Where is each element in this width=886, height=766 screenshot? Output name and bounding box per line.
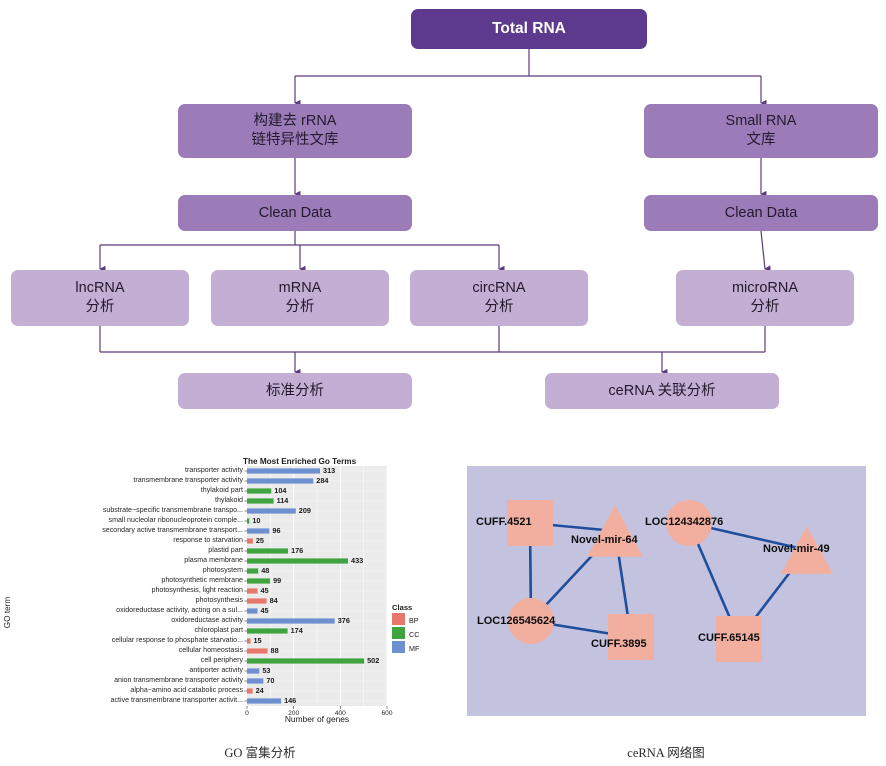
cerna-node-cuff3895[interactable] [608,614,654,660]
cerna-network-graph [467,466,866,716]
cerna-node-label-nmir64: Novel-mir-64 [571,534,638,546]
go-bar [247,638,251,643]
go-bar-value: 53 [262,667,270,674]
go-category-label: small nucleolar ribonucleoprotein comple… [20,517,243,524]
go-bar-value: 70 [266,677,274,684]
go-bar [247,608,258,613]
go-yaxis-title: GO term [3,597,12,628]
go-chart-title: The Most Enriched Go Terms [243,457,356,466]
cerna-node-label-cuff65145: CUFF.65145 [698,632,760,644]
go-xtick-label: 0 [233,710,261,717]
go-legend-swatch-cc [392,627,405,639]
go-bar [247,548,288,553]
go-bar-value: 174 [291,627,303,634]
go-xaxis-title: Number of genes [247,714,387,724]
flow-node-label: 构建去 rRNA [254,112,337,131]
go-bar-value: 376 [338,617,350,624]
go-bar [247,628,288,633]
go-category-label: substrate−specific transmembrane transpo… [20,507,243,514]
flow-node-label: lncRNA [75,279,124,298]
go-xtick-label: 400 [326,710,354,717]
go-category-label: active transmembrane transporter activit… [20,697,243,704]
go-bar-value: 24 [256,687,264,694]
go-category-label: photosystem [20,567,243,574]
go-category-label: alpha−amino acid catabolic process [20,687,243,694]
flow-node-standard: 标准分析 [178,373,412,409]
go-xtick-label: 600 [373,710,401,717]
go-bar-value: 104 [274,487,286,494]
go-bar [247,498,274,503]
go-bar-value: 15 [254,637,262,644]
go-bar [247,688,253,693]
flow-node-label: Small RNA [726,112,797,131]
go-bar [247,658,364,663]
flow-node-label: 链特异性文库 [252,131,339,150]
cerna-node-label-cuff4521: CUFF.4521 [476,516,532,528]
cerna-node-label-loc1243: LOC124342876 [645,516,723,528]
flow-node-mrna: mRNA分析 [211,270,389,326]
go-category-label: chloroplast part [20,627,243,634]
cerna-node-label-nmir49: Novel-mir-49 [763,543,830,555]
go-bar-value: 25 [256,537,264,544]
flow-node-label: microRNA [732,279,798,298]
go-bar [247,698,281,703]
go-bar [247,538,253,543]
go-category-label: plastid part [20,547,243,554]
go-legend-label-bp: BP [409,616,419,625]
go-bar-value: 176 [291,547,303,554]
go-category-label: thylakoid part [20,487,243,494]
go-bar-value: 284 [316,477,328,484]
go-category-label: plasma membrane [20,557,243,564]
flow-node-label: 分析 [485,298,514,317]
go-category-label: oxidoreductase activity, acting on a sul… [20,607,243,614]
workflow-flowchart: Total RNA构建去 rRNA链特异性文库Small RNA文库Clean … [0,0,886,440]
go-category-label: secondary active transmembrane transport… [20,527,243,534]
go-legend-swatch-mf [392,641,405,653]
flow-node-label: ceRNA 关联分析 [608,382,715,401]
go-bar [247,578,270,583]
go-bar-value: 45 [261,607,269,614]
go-bar [247,468,320,473]
flow-node-label: 分析 [751,298,780,317]
cerna-node-label-cuff3895: CUFF.3895 [591,638,647,650]
go-bar-value: 96 [272,527,280,534]
flow-node-rrna-library: 构建去 rRNA链特异性文库 [178,104,412,158]
flow-node-label: Clean Data [259,204,332,223]
flow-node-label: Total RNA [492,19,566,39]
flow-node-clean-data-r: Clean Data [644,195,878,231]
go-bar [247,678,263,683]
go-category-label: photosynthesis [20,597,243,604]
flow-node-label: 分析 [286,298,315,317]
go-category-label: cellular response to phosphate starvatio… [20,637,243,644]
flow-node-total-rna: Total RNA [411,9,647,49]
go-bar [247,528,269,533]
flow-node-label: Clean Data [725,204,798,223]
go-bar [247,508,296,513]
flow-node-label: mRNA [279,279,322,298]
flow-node-microrna: microRNA分析 [676,270,854,326]
cerna-network-diagram: CUFF.4521Novel-mir-64LOC126545624CUFF.38… [467,466,866,716]
go-bar-value: 45 [261,587,269,594]
go-category-label: oxidoreductase activity [20,617,243,624]
go-bar [247,648,268,653]
flow-node-circrna: circRNA分析 [410,270,588,326]
cerna-figure-caption: ceRNA 网络图 [546,742,786,761]
flow-node-small-rna-lib: Small RNA文库 [644,104,878,158]
go-bar [247,588,258,593]
cerna-node-nmir64[interactable] [587,505,643,557]
go-bar-value: 99 [273,577,281,584]
go-legend-swatch-bp [392,613,405,625]
cerna-node-label-loc1265: LOC126545624 [477,615,555,627]
go-bar-value: 10 [252,517,260,524]
go-bar [247,598,267,603]
go-category-label: anion transmembrane transporter activity [20,677,243,684]
go-bar-value: 114 [277,497,289,504]
go-category-label: response to starvation [20,537,243,544]
go-category-label: cellular homeostasis [20,647,243,654]
go-bar-value: 209 [299,507,311,514]
go-bar [247,568,258,573]
flow-node-label: 文库 [747,131,776,150]
flow-node-label: 标准分析 [266,382,324,401]
go-legend-label-mf: MF [409,644,419,653]
flow-node-label: circRNA [472,279,525,298]
go-category-label: transmembrane transporter activity [20,477,243,484]
go-figure-caption: GO 富集分析 [140,742,380,761]
go-bar [247,518,249,523]
go-category-label: antiporter activity [20,667,243,674]
go-bar [247,558,348,563]
go-xtick-label: 200 [280,710,308,717]
go-category-label: thylakoid [20,497,243,504]
go-bar-value: 84 [270,597,278,604]
go-bar-value: 433 [351,557,363,564]
go-category-label: cell periphery [20,657,243,664]
go-bar-value: 502 [367,657,379,664]
go-legend-label-cc: CC [409,630,419,639]
go-category-label: transporter activity [20,467,243,474]
go-category-label: photosynthetic membrane [20,577,243,584]
flow-node-cerna-analysis: ceRNA 关联分析 [545,373,779,409]
go-bar [247,478,313,483]
flow-node-label: 分析 [86,298,115,317]
go-bar [247,668,259,673]
go-bar-value: 48 [261,567,269,574]
go-category-label: photosynthesis, light reaction [20,587,243,594]
go-bar-value: 313 [323,467,335,474]
flow-node-lncrna: lncRNA分析 [11,270,189,326]
go-bar [247,618,335,623]
go-bar-value: 88 [271,647,279,654]
flow-node-clean-data-l: Clean Data [178,195,412,231]
go-bar-value: 146 [284,697,296,704]
go-bar [247,488,271,493]
go-legend-title: Class [392,603,412,612]
